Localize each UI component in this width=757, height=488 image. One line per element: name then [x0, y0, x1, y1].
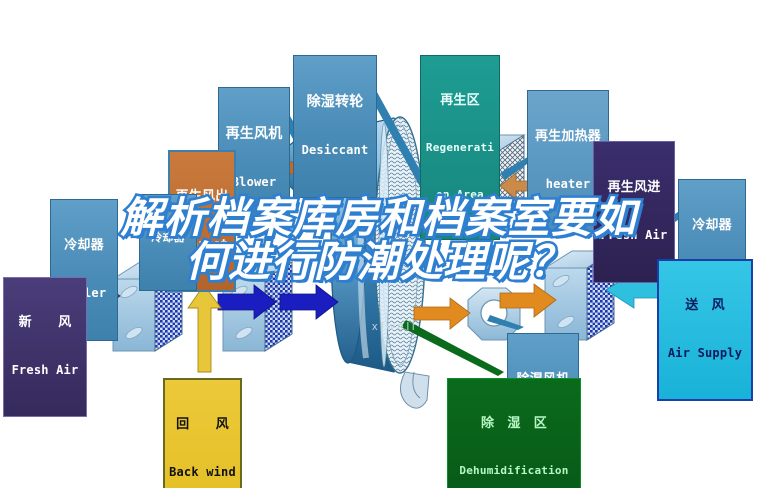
label-dehumidification-district-cn: 除 湿 区	[450, 417, 578, 431]
label-regeneration-area-en2: on Area	[423, 189, 497, 201]
label-regeneration-area-cn: 再生区	[423, 94, 497, 108]
label-cooler-left-cn: 冷却器	[53, 239, 115, 253]
label-regeneration-area: 再生区 Regenerati on Area	[420, 55, 500, 240]
label-dehumidification-district: 除 湿 区 Dehumidification District	[447, 378, 581, 488]
label-back-wind: 回 风 Back wind	[163, 378, 242, 488]
label-regen-fresh-air-cn: 再生风进	[596, 181, 672, 195]
label-desiccant-wheel-cn: 除湿转轮	[296, 95, 374, 110]
label-cooler-mid-cn: 冷却器	[142, 232, 194, 244]
label-air-supply-en: Air Supply	[661, 347, 749, 360]
label-cooler-right-cn: 冷却器	[681, 219, 743, 233]
label-regeneration-area-en1: Regenerati	[423, 142, 497, 154]
label-back-wind-cn: 回 风	[167, 418, 238, 432]
label-regen-blower-cn: 再生风机	[221, 127, 287, 142]
label-cooler-mid: 冷却器	[139, 194, 197, 291]
label-back-wind-en: Back wind	[167, 466, 238, 479]
rotor-drain	[400, 372, 429, 408]
label-dehumidification-district-en1: Dehumidification	[450, 465, 578, 477]
label-desiccant-wheel-en: Desiccant	[296, 144, 374, 157]
watermark-text: xfwell	[372, 321, 418, 333]
label-fresh-air-left: 新 风 Fresh Air	[3, 277, 87, 417]
label-fresh-air-left-en: Fresh Air	[6, 364, 84, 377]
label-fresh-air-left-cn: 新 风	[6, 316, 84, 330]
diagram-canvas: xfwell 除湿转轮 Desiccant 再生风机 Blower 再生风出 E…	[0, 0, 757, 488]
label-desiccant-wheel: 除湿转轮 Desiccant	[293, 55, 377, 198]
label-regen-fresh-air-en: Fresh Air	[596, 229, 672, 242]
label-air-supply: 送 风 Air Supply	[657, 259, 753, 401]
back-wind-arrow	[188, 285, 221, 372]
label-air-supply-cn: 送 风	[661, 299, 749, 313]
